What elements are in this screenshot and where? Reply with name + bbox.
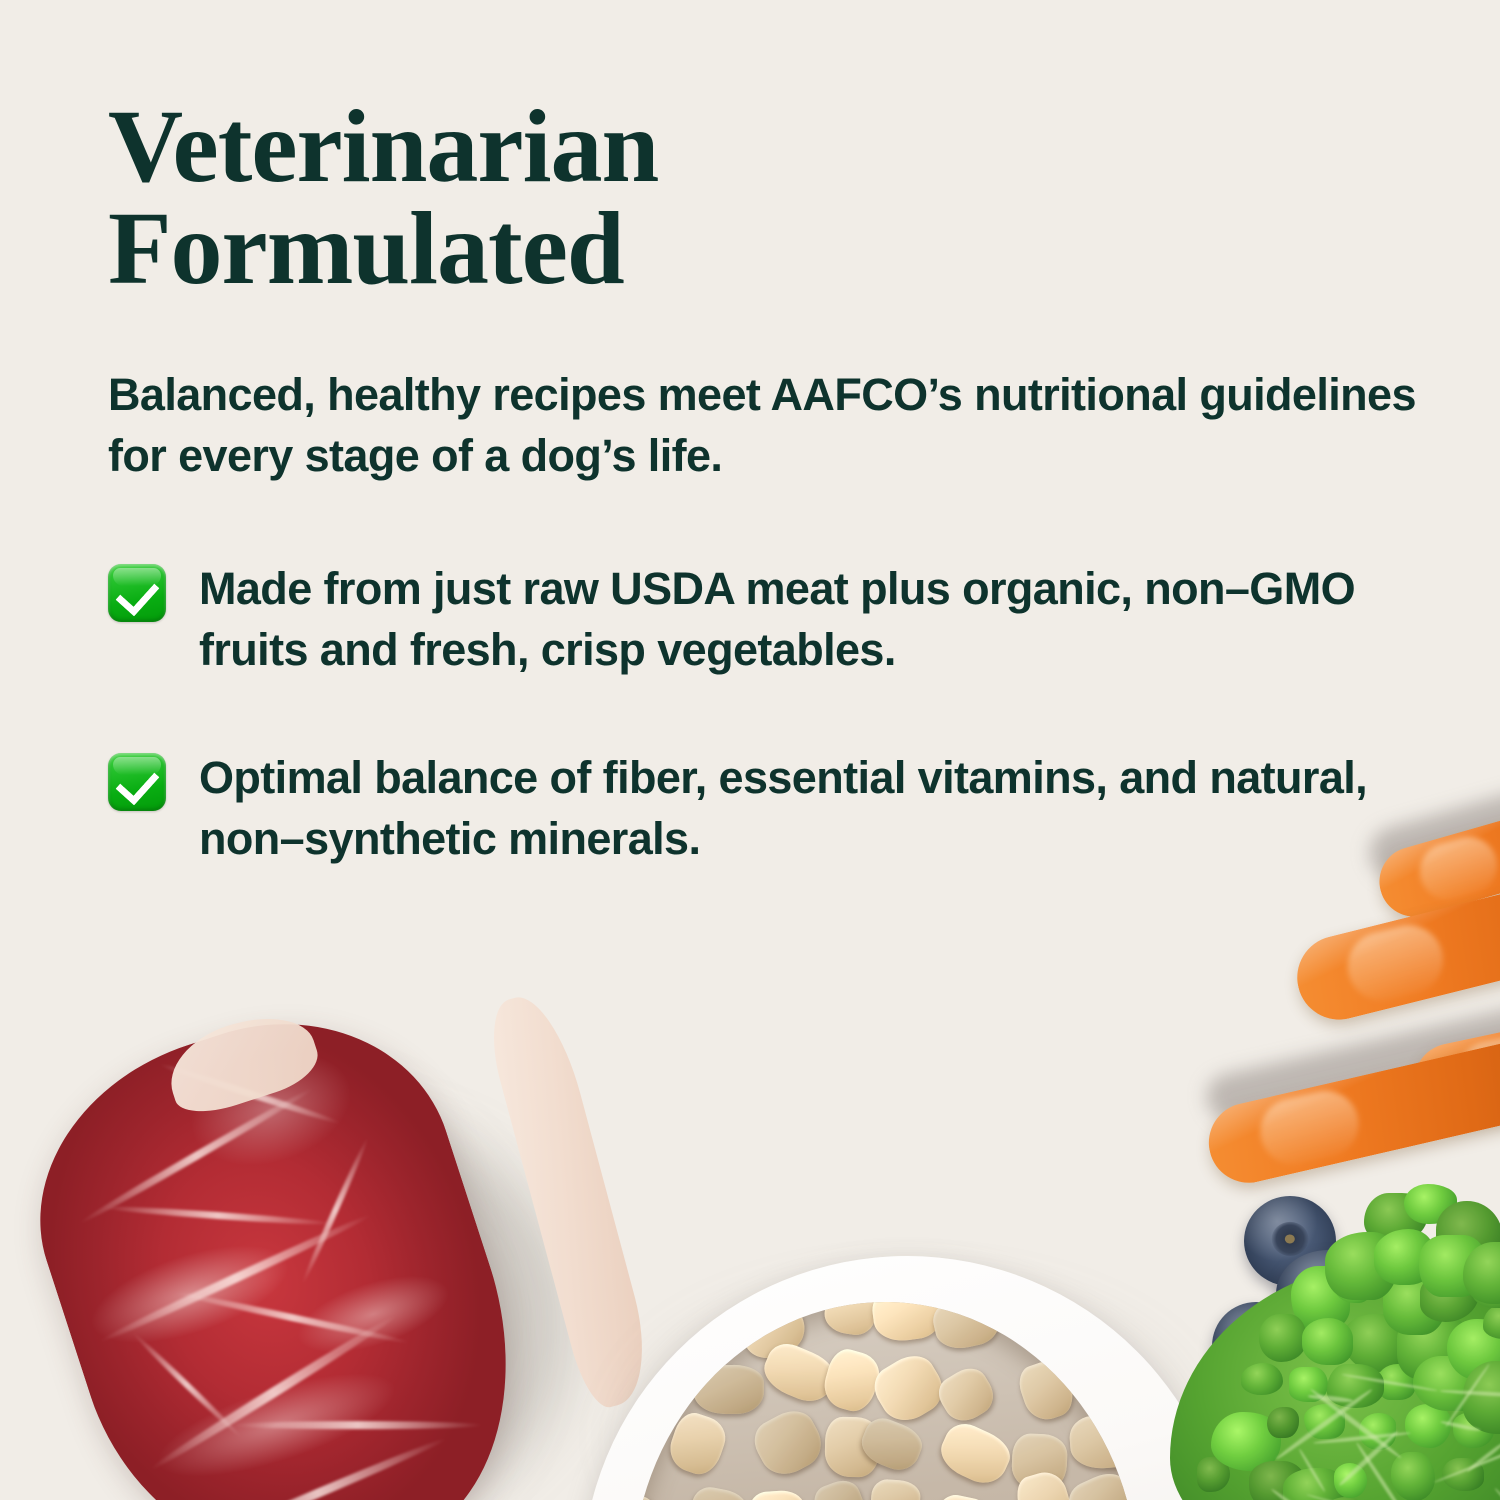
green-check-icon (108, 753, 166, 811)
kibble-piece (930, 1302, 1004, 1353)
kale-frill (1334, 1463, 1367, 1498)
benefits-list: Made from just raw USDA meat plus organi… (108, 558, 1438, 869)
kibble-piece (934, 1417, 1017, 1491)
feature-text-block: Veterinarian Formulated Balanced, health… (108, 96, 1438, 935)
kibble-piece (809, 1475, 870, 1500)
kibble-piece (688, 1485, 751, 1500)
list-item-label: Optimal balance of fiber, essential vita… (199, 747, 1409, 869)
kale-frill (1259, 1314, 1306, 1362)
green-check-icon (108, 564, 166, 622)
kale-frill (1405, 1404, 1451, 1447)
kale-frill (1302, 1318, 1352, 1364)
kibble-piece (926, 1492, 1000, 1500)
kibble-piece (1068, 1413, 1138, 1471)
kibble-piece (870, 1479, 922, 1500)
kibble-piece (693, 1364, 763, 1414)
kibble-piece (932, 1361, 1000, 1428)
kibble-piece (822, 1302, 879, 1338)
kale-frill (1241, 1363, 1283, 1394)
kibble-piece (747, 1403, 830, 1484)
list-item-label: Made from just raw USDA meat plus organi… (199, 558, 1409, 680)
kale-frill (1391, 1452, 1435, 1500)
kibble-piece (748, 1489, 805, 1500)
page-title: Veterinarian Formulated (108, 96, 1438, 300)
kale-image (1110, 1170, 1500, 1500)
list-item: Made from just raw USDA meat plus organi… (108, 558, 1438, 680)
product-feature-canvas: Veterinarian Formulated Balanced, health… (0, 0, 1500, 1500)
kale-frill (1267, 1407, 1299, 1438)
list-item: Optimal balance of fiber, essential vita… (108, 747, 1438, 869)
subtitle-text: Balanced, healthy recipes meet AAFCO’s n… (108, 364, 1438, 486)
